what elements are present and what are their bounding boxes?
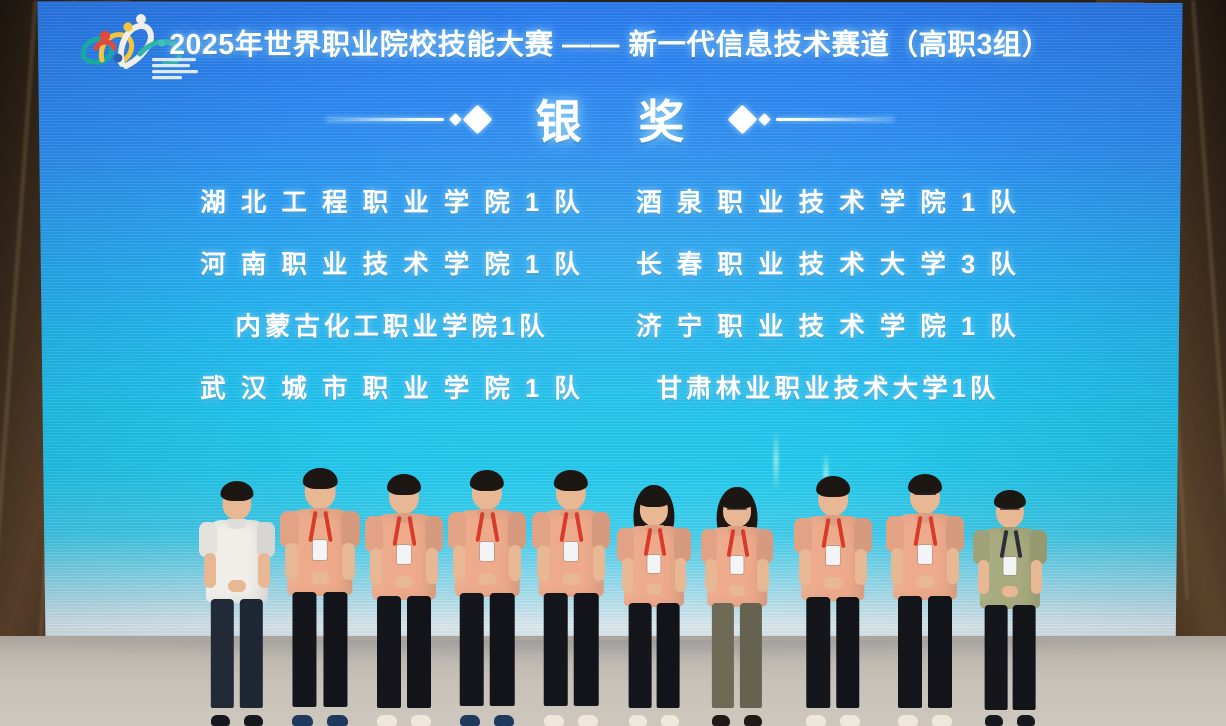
person-official-left [192, 481, 282, 726]
person-official-right [965, 490, 1055, 726]
winners-list: 湖 北 工 程 职 业 学 院 1 队 酒 泉 职 业 技 术 学 院 1 队 … [34, 182, 1186, 405]
sleeve-right [946, 516, 964, 552]
shoe-left [629, 715, 648, 726]
hair [303, 468, 338, 489]
arm-left [285, 543, 297, 580]
arm-right [947, 548, 959, 584]
sleeve-right [854, 518, 872, 554]
leg-left [712, 603, 734, 707]
badge [918, 545, 932, 564]
person-participant-5 [609, 488, 699, 726]
leg-right [657, 603, 680, 708]
winner-item: 酒 泉 职 业 技 术 学 院 1 队 [610, 182, 1046, 219]
hands [395, 576, 413, 588]
award-title: 银 奖 [514, 86, 707, 152]
shoe-left [211, 715, 230, 726]
shoe-left [544, 715, 564, 726]
hair [554, 470, 588, 491]
hands [1002, 586, 1019, 597]
sleeve-right [341, 511, 359, 548]
badge [647, 555, 660, 573]
sleeve-left [532, 512, 550, 548]
arm-left [891, 548, 903, 584]
glasses [727, 508, 747, 514]
arm-right [426, 548, 438, 584]
sleeve-left [448, 512, 466, 548]
diamond-line-ornament-right-icon [732, 109, 894, 130]
sleeve-left [794, 518, 812, 554]
leg-right [240, 599, 263, 708]
page-title: 2025年世界职业院校技能大赛 —— 新一代信息技术赛道（高职3组） [34, 22, 1186, 63]
leg-right [740, 603, 762, 707]
glasses [914, 493, 936, 499]
shoe-right [494, 715, 514, 726]
badge [480, 542, 494, 561]
collar [227, 519, 246, 529]
hands [478, 573, 496, 585]
arm-right [593, 545, 605, 581]
shoe-right [244, 715, 263, 726]
shoe-right [578, 715, 598, 726]
sleeve-left [199, 522, 216, 557]
arm-left [370, 548, 382, 584]
hands [646, 584, 663, 595]
hands [729, 585, 746, 596]
winner-item: 湖 北 工 程 职 业 学 院 1 队 [174, 182, 610, 219]
sleeve-right [508, 512, 526, 548]
glasses [1000, 508, 1020, 514]
diamond-line-ornament-left-icon [326, 109, 488, 130]
badge [826, 546, 840, 565]
leg-right [323, 592, 347, 706]
people-row [0, 406, 1226, 726]
arm-left [622, 558, 633, 592]
shoe-right [1017, 715, 1036, 726]
leg-left [211, 599, 234, 708]
shoe-left [712, 715, 731, 726]
hands [824, 577, 842, 589]
hands [562, 573, 580, 585]
legs [292, 592, 347, 706]
person-participant-4 [526, 470, 616, 726]
sleeve-right [425, 516, 443, 552]
sleeve-left [701, 529, 718, 562]
leg-left [806, 597, 830, 708]
sleeve-left [973, 530, 990, 564]
winner-item: 济 宁 职 业 技 术 学 院 1 队 [610, 306, 1046, 343]
leg-right [928, 596, 952, 708]
legs [985, 605, 1036, 710]
arm-left [537, 545, 549, 581]
leg-right [1013, 605, 1036, 710]
arm-right [675, 558, 686, 592]
arm-right [258, 553, 270, 588]
shoe-right [411, 715, 431, 726]
hair [387, 474, 421, 495]
arm-left [705, 559, 716, 592]
hair [220, 481, 253, 501]
shoe-left [292, 715, 312, 726]
hair [721, 490, 753, 509]
badge [564, 542, 578, 561]
winner-item: 内蒙古化工职业学院1队 [174, 306, 610, 343]
shoe-right [932, 715, 952, 726]
hair [470, 470, 504, 491]
leg-right [407, 596, 431, 708]
sleeve-left [280, 511, 298, 548]
arm-left [204, 553, 216, 588]
arm-right [509, 545, 521, 581]
person-participant-3 [442, 470, 532, 726]
shoe-right [661, 715, 680, 726]
badge [1003, 557, 1016, 575]
shoe-right [840, 715, 860, 726]
badge [397, 545, 411, 564]
hair [994, 490, 1026, 509]
winner-item: 甘肃林业职业技术大学1队 [610, 368, 1046, 405]
leg-left [292, 592, 316, 706]
sleeve-right [757, 529, 774, 562]
sleeve-left [886, 516, 904, 552]
hands [916, 576, 934, 588]
shoe-right [744, 715, 763, 726]
shoe-left [460, 715, 480, 726]
sleeve-right [1030, 530, 1047, 564]
award-heading-row: 银 奖 [34, 86, 1186, 152]
hair [638, 488, 670, 507]
arm-right [855, 549, 867, 585]
leg-right [490, 593, 514, 706]
sleeve-right [257, 522, 274, 557]
leg-left [985, 605, 1008, 710]
winner-item: 长 春 职 业 技 术 大 学 3 队 [610, 244, 1046, 281]
badge [313, 540, 327, 559]
sleeve-left [617, 528, 634, 562]
shoe-left [985, 715, 1004, 726]
legs [806, 597, 859, 708]
arm-left [453, 545, 465, 581]
winner-item: 河 南 职 业 技 术 学 院 1 队 [174, 244, 610, 281]
legs [544, 593, 599, 706]
leg-left [377, 596, 401, 708]
person-participant-6 [692, 490, 782, 726]
legs [377, 596, 431, 708]
arm-right [342, 543, 354, 580]
person-participant-8 [880, 474, 970, 726]
arm-left [978, 560, 989, 594]
sleeve-left [365, 516, 383, 552]
hands [311, 572, 329, 584]
sleeve-right [592, 512, 610, 548]
person-participant-7 [788, 476, 878, 726]
hair [816, 476, 850, 497]
sleeve-right [674, 528, 691, 562]
arm-right [757, 559, 768, 592]
leg-right [836, 597, 860, 708]
person-participant-1 [275, 468, 365, 726]
shoe-right [327, 715, 347, 726]
shoe-left [898, 715, 918, 726]
badge [730, 556, 743, 574]
legs [211, 599, 263, 708]
hands [228, 580, 245, 592]
leg-left [629, 603, 652, 708]
stage-photo: 2025年世界职业院校技能大赛 —— 新一代信息技术赛道（高职3组） 银 奖 湖… [0, 0, 1226, 726]
hair [908, 474, 942, 495]
leg-left [460, 593, 484, 706]
leg-left [898, 596, 922, 708]
person-participant-2 [359, 474, 449, 726]
winner-item: 武 汉 城 市 职 业 学 院 1 队 [174, 368, 610, 405]
leg-right [574, 593, 598, 706]
legs [629, 603, 680, 708]
legs [460, 593, 515, 706]
arm-right [1031, 560, 1042, 594]
leg-left [544, 593, 568, 706]
shoe-left [377, 715, 397, 726]
shoe-left [806, 715, 826, 726]
arm-left [799, 549, 811, 585]
legs [712, 603, 762, 707]
legs [898, 596, 952, 708]
